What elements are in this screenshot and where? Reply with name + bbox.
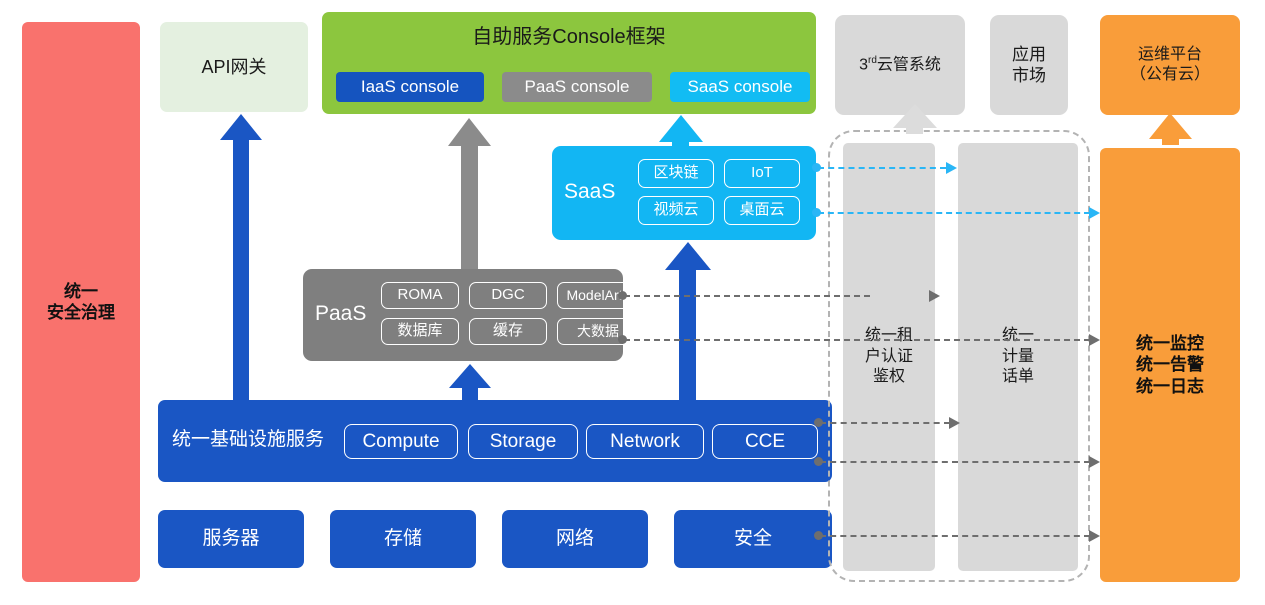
arrow-infra-to-api-gateway [220, 114, 262, 400]
saas-label: SaaS [564, 179, 615, 205]
console-framework-title: 自助服务Console框架 [322, 25, 816, 50]
infra-service-cce[interactable]: CCE [712, 424, 818, 459]
console-framework-panel: 自助服务Console框架 IaaS console PaaS console … [322, 12, 816, 114]
resource-box-security: 安全 [674, 510, 832, 568]
paas-service-cache[interactable]: 缓存 [469, 318, 547, 345]
saas-console-chip[interactable]: SaaS console [670, 72, 810, 102]
infra-service-network[interactable]: Network [586, 424, 704, 459]
unified-tenant-auth-column: 统一租户认证鉴权 [843, 143, 935, 571]
paas-label: PaaS [315, 301, 366, 327]
resource-box-server: 服务器 [158, 510, 304, 568]
saas-to-metering-arrowhead [946, 162, 957, 174]
ops-platform-box: 运维平台（公有云） [1100, 15, 1240, 115]
paas-to-ops-dashed-line [624, 339, 1090, 341]
infra-to-auth-arrowhead [949, 417, 960, 429]
arrow-saas-to-console [659, 115, 703, 148]
security-governance-panel: 统一安全治理 [22, 22, 140, 582]
ops-platform-label: 运维平台（公有云） [1130, 45, 1210, 85]
unified-metering-column: 统一计量话单 [958, 143, 1078, 571]
arrow-paas-to-console [448, 118, 491, 269]
app-market-label: 应用市场 [1012, 44, 1046, 87]
api-gateway-box: API网关 [160, 22, 308, 112]
paas-service-roma[interactable]: ROMA [381, 282, 459, 309]
saas-to-metering-dashed-line [818, 167, 946, 169]
security-governance-label: 统一安全治理 [47, 281, 115, 324]
saas-block: SaaS 区块链 IoT 视频云 桌面云 [552, 146, 816, 240]
architecture-diagram: 统一安全治理 API网关 自助服务Console框架 IaaS console … [0, 0, 1265, 605]
resource-box-network: 网络 [502, 510, 648, 568]
third-party-cloud-mgmt-label: 3rd云管系统 [859, 55, 941, 75]
infrastructure-bar: 统一基础设施服务 Compute Storage Network CCE [158, 400, 832, 482]
paas-block: PaaS ROMA DGC ModelArts 数据库 缓存 大数据 [303, 269, 623, 361]
saas-service-iot[interactable]: IoT [724, 159, 800, 188]
resources-to-ops-arrowhead [1089, 530, 1100, 542]
paas-console-chip[interactable]: PaaS console [502, 72, 652, 102]
infra-to-ops-dashed-line [820, 461, 1090, 463]
iaas-console-chip[interactable]: IaaS console [336, 72, 484, 102]
arrow-infra-to-saas [665, 242, 711, 400]
unified-metering-label: 统一计量话单 [1002, 326, 1034, 388]
paas-to-auth-arrowhead [929, 290, 940, 302]
saas-to-ops-arrowhead [1089, 207, 1100, 219]
api-gateway-label: API网关 [201, 56, 266, 79]
resources-to-ops-dashed-line [820, 535, 1090, 537]
saas-service-blockchain[interactable]: 区块链 [638, 159, 714, 188]
arrow-into-ops-platform [1149, 113, 1192, 145]
paas-to-auth-dashed-line [624, 295, 870, 297]
infrastructure-label: 统一基础设施服务 [172, 428, 324, 452]
paas-service-dgc[interactable]: DGC [469, 282, 547, 309]
saas-to-ops-dashed-line [818, 212, 1090, 214]
infra-service-compute[interactable]: Compute [344, 424, 458, 459]
paas-service-database[interactable]: 数据库 [381, 318, 459, 345]
ops-monitoring-panel: 统一监控统一告警统一日志 [1100, 148, 1240, 582]
infra-to-ops-arrowhead [1089, 456, 1100, 468]
third-party-cloud-mgmt-box: 3rd云管系统 [835, 15, 965, 115]
arrow-infra-to-paas [449, 364, 491, 401]
app-market-box: 应用市场 [990, 15, 1068, 115]
infra-service-storage[interactable]: Storage [468, 424, 578, 459]
unified-tenant-auth-label: 统一租户认证鉴权 [865, 326, 913, 388]
paas-to-ops-arrowhead [1089, 334, 1100, 346]
saas-service-video-cloud[interactable]: 视频云 [638, 196, 714, 225]
saas-service-desktop-cloud[interactable]: 桌面云 [724, 196, 800, 225]
resource-box-storage: 存储 [330, 510, 476, 568]
infra-to-auth-dashed-line [820, 422, 950, 424]
ops-monitoring-label: 统一监控统一告警统一日志 [1136, 333, 1204, 397]
